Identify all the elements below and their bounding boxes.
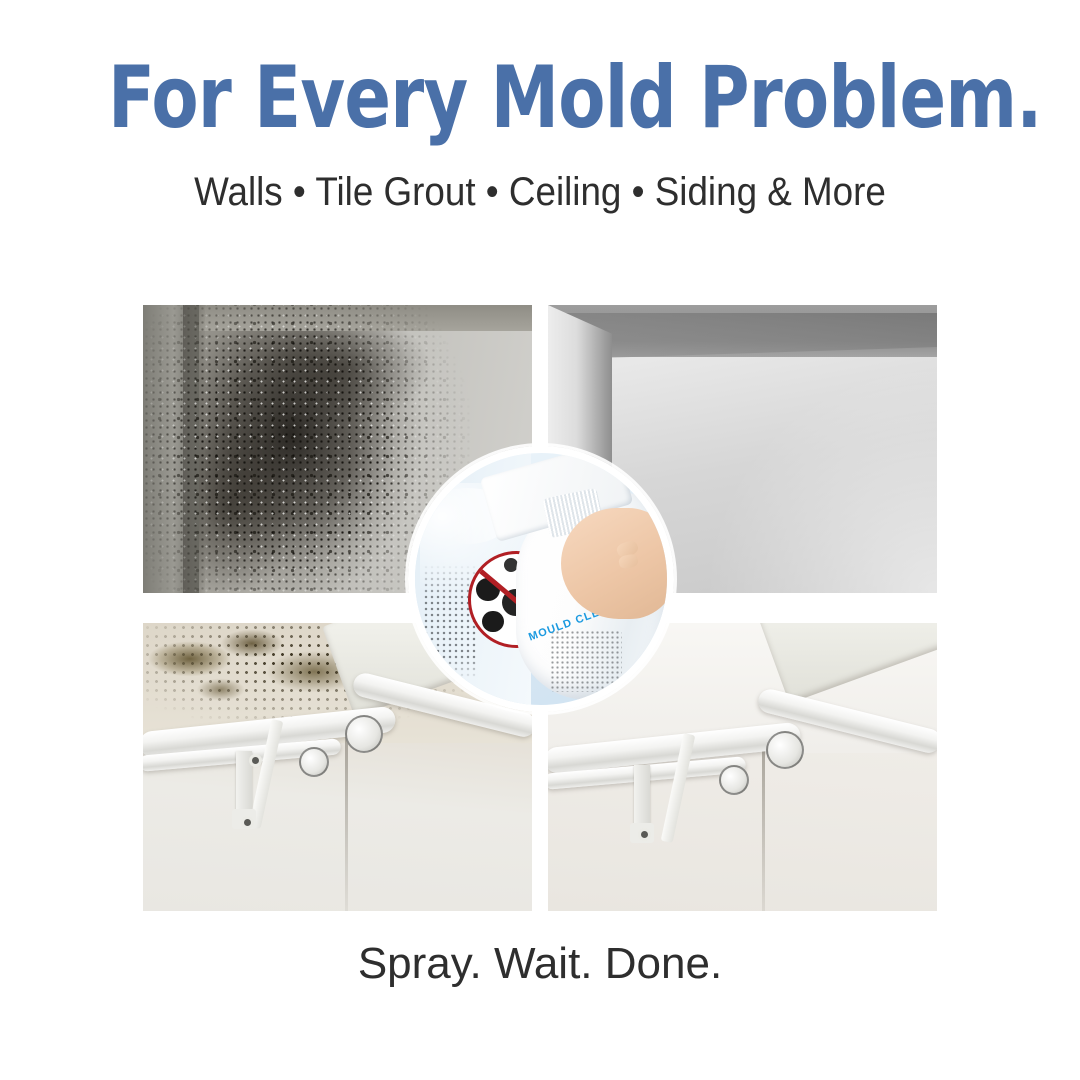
mould-cleaner-badge: MOULD CLEANER [408, 446, 674, 712]
subtitle: Walls • Tile Grout • Ceiling • Siding & … [43, 166, 1037, 218]
mold-spore-icon [482, 611, 504, 633]
pipe-bracket [236, 751, 252, 823]
poster-canvas: For Every Mold Problem. Walls • Tile Gro… [0, 0, 1080, 1080]
pipe-collar [345, 715, 383, 753]
page-title: For Every Mold Problem. [108, 52, 972, 144]
pipe-collar [719, 765, 749, 795]
pipe-collar [299, 747, 329, 777]
wall-corner-line [345, 727, 348, 911]
finger [618, 553, 639, 570]
pipe-collar [766, 731, 804, 769]
bottle-liquid-window [550, 630, 622, 692]
hand [561, 508, 674, 619]
wall-highlight [704, 363, 937, 593]
pipe-bracket [634, 765, 650, 837]
footer-caption: Spray. Wait. Done. [0, 936, 1080, 992]
wall-corner-line [762, 738, 765, 911]
screw-icon [252, 757, 259, 764]
badge-wall-mold [423, 564, 478, 680]
